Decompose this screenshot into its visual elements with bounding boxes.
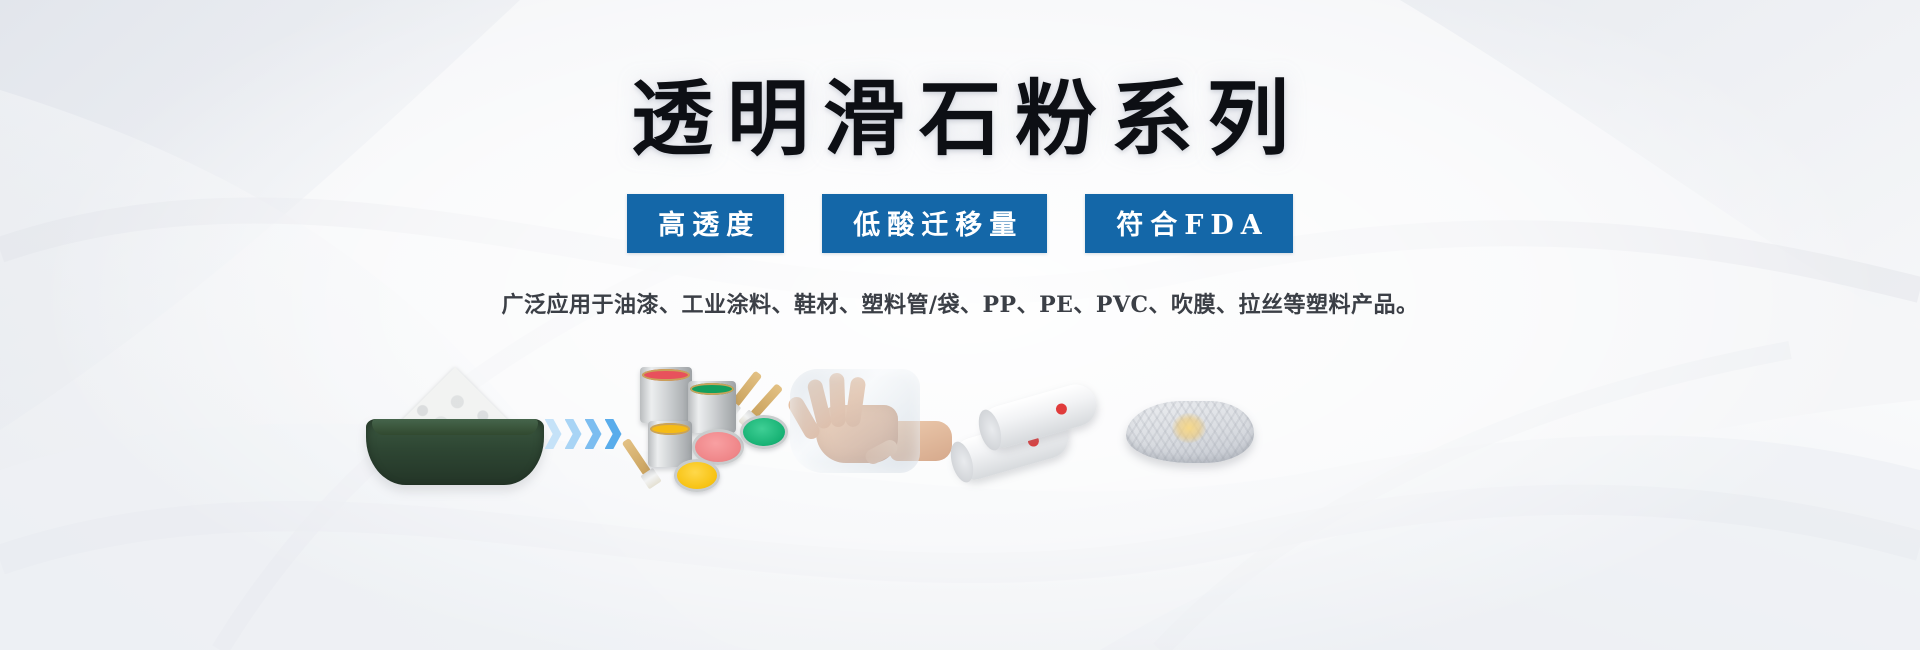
paint-brush-icon — [750, 383, 783, 419]
banner-content: 透明滑石粉系列 高透度 低酸迁移量 符合FDA 广泛应用于油漆、工业涂料、鞋材、… — [0, 0, 1920, 650]
chevron-right-icon — [545, 419, 562, 449]
insole-highlight — [1172, 413, 1206, 443]
film-rolls-icon — [950, 379, 1120, 489]
feature-badge-row: 高透度 低酸迁移量 符合FDA — [627, 194, 1293, 253]
paint-can-red — [640, 367, 692, 423]
paint-lid-green — [740, 415, 788, 449]
paint-lid-yellow — [674, 459, 720, 492]
feature-badge-high-transparency: 高透度 — [627, 194, 784, 253]
product-image-shoe-insole — [1120, 349, 1260, 489]
product-image-plastic-glove-hand — [790, 349, 960, 489]
glove-hand-icon — [790, 369, 960, 489]
application-description: 广泛应用于油漆、工业涂料、鞋材、塑料管/袋、PP、PE、PVC、吹膜、拉丝等塑料… — [501, 287, 1418, 319]
chevron-right-icon — [605, 419, 622, 449]
green-bowl — [366, 419, 544, 485]
chevron-group — [545, 419, 622, 489]
product-banner: 透明滑石粉系列 高透度 低酸迁移量 符合FDA 广泛应用于油漆、工业涂料、鞋材、… — [0, 0, 1920, 650]
chevron-right-icon — [585, 419, 602, 449]
product-application-strip — [0, 339, 1920, 489]
shoe-insole-icon — [1120, 379, 1260, 489]
product-image-paint-cans — [630, 349, 800, 489]
feature-badge-fda-compliant: 符合FDA — [1085, 194, 1293, 253]
talc-bowl-icon — [355, 359, 555, 489]
paint-cans-icon — [630, 359, 800, 489]
product-image-talc-powder-bowl — [355, 349, 555, 489]
paint-can-green — [688, 381, 736, 433]
chevron-right-icon — [565, 419, 582, 449]
page-title: 透明滑石粉系列 — [617, 78, 1303, 160]
product-image-film-rolls — [950, 349, 1120, 489]
arrow-chevrons-icon — [528, 349, 638, 489]
feature-badge-low-acid-migration: 低酸迁移量 — [822, 194, 1047, 253]
transparent-glove-film — [790, 369, 920, 473]
